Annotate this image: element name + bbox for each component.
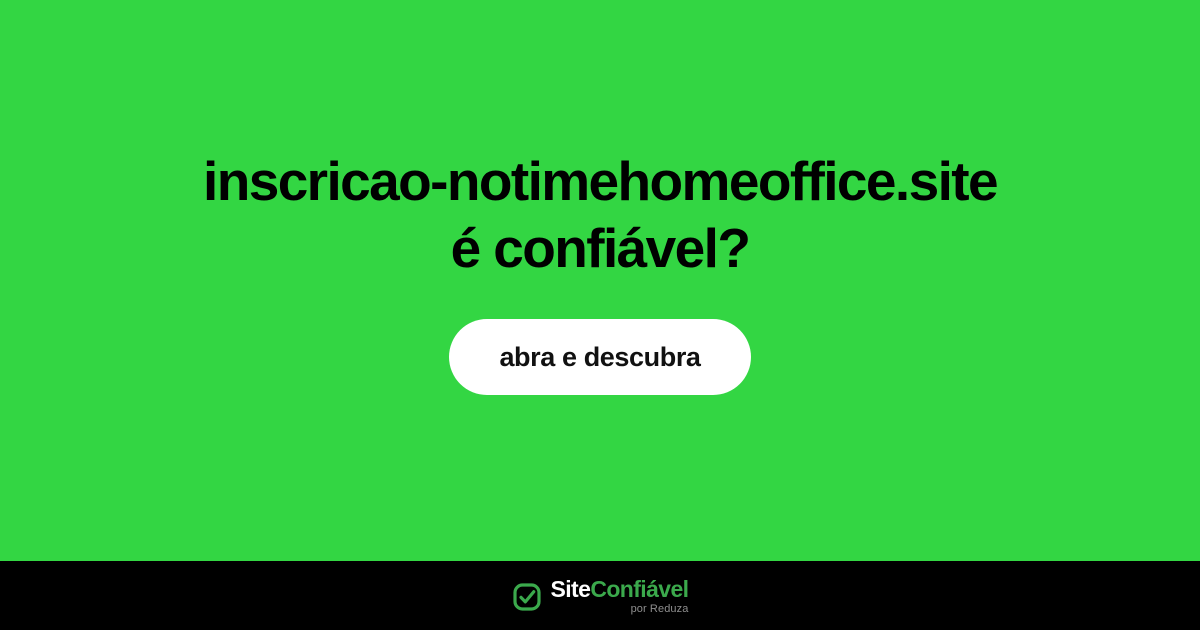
- headline-line-question: é confiável?: [203, 215, 997, 282]
- brand-logo[interactable]: SiteConfiável por Reduza: [512, 578, 689, 615]
- headline-line-domain: inscricao-notimehomeoffice.site: [203, 148, 997, 215]
- rounded-square-check-icon: [512, 582, 542, 612]
- footer-bar: SiteConfiável por Reduza: [0, 561, 1200, 630]
- open-and-discover-button[interactable]: abra e descubra: [449, 319, 751, 395]
- cta-container: abra e descubra: [0, 319, 1200, 395]
- social-share-card: inscricao-notimehomeoffice.site é confiá…: [0, 0, 1200, 630]
- hero-section: inscricao-notimehomeoffice.site é confiá…: [0, 0, 1200, 561]
- brand-name-site: Site: [551, 576, 591, 602]
- brand-tagline: por Reduza: [631, 604, 689, 615]
- page-title: inscricao-notimehomeoffice.site é confiá…: [163, 148, 1037, 282]
- brand-name-confiavel: Confiável: [590, 576, 688, 602]
- brand-name: SiteConfiável: [551, 578, 689, 601]
- brand-text-group: SiteConfiável por Reduza: [551, 578, 689, 615]
